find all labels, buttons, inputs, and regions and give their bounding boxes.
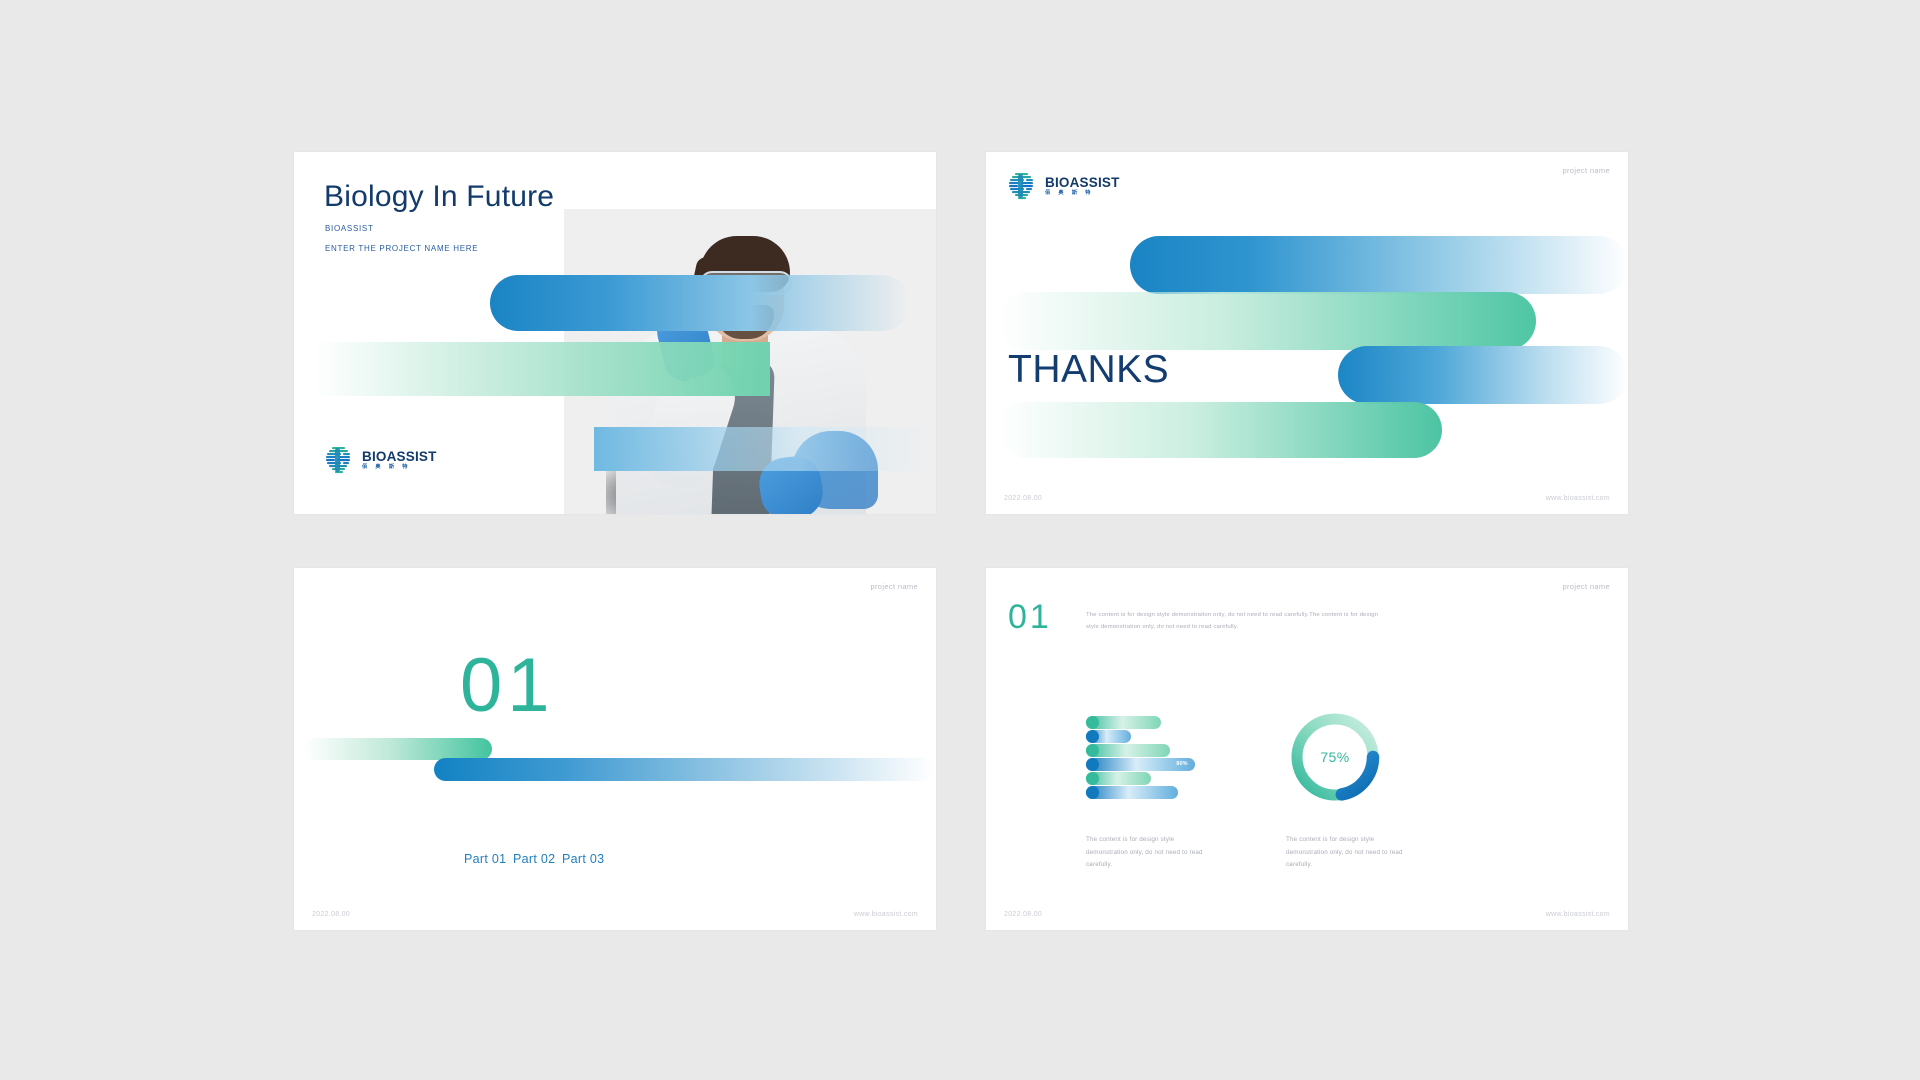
slide-deck-board: Biology In Future BIOASSIST ENTER THE PR… <box>0 0 1920 1080</box>
slide-data-charts[interactable]: project name 01 The content is for desig… <box>986 568 1628 930</box>
bar-cap-dot <box>1086 758 1099 771</box>
donut-center-value: 75% <box>1286 708 1384 806</box>
logo-wordmark: BIOASSIST <box>362 450 437 464</box>
bar-cap-dot <box>1086 716 1099 729</box>
caption-right: The content is for design style demonstr… <box>1286 834 1414 872</box>
logo-subtext-cn: 佰 奥 斯 特 <box>362 465 437 470</box>
bar-fill <box>1086 786 1178 799</box>
bar-cap-dot <box>1086 744 1099 757</box>
page-title: Biology In Future <box>324 180 554 214</box>
section-number: 01 <box>460 648 555 724</box>
decorative-capsule-green <box>314 342 770 396</box>
caption-left: The content is for design style demonstr… <box>1086 834 1214 872</box>
slide-thanks[interactable]: BIOASSIST 佰 奥 斯 特 project name THANKS 20… <box>986 152 1628 514</box>
donut-progress-chart: 75% <box>1286 708 1384 806</box>
slide-section-divider[interactable]: project name 01 Part 01 Part 02 Part 03 … <box>294 568 936 930</box>
bar-value-label: 80% <box>1176 761 1187 767</box>
bar-cap-dot <box>1086 772 1099 785</box>
decorative-capsule-3 <box>1338 346 1628 404</box>
footer-date: 2022.08.00 <box>312 911 350 918</box>
part-label-03[interactable]: Part 03 <box>562 852 604 866</box>
bar-cap-dot <box>1086 786 1099 799</box>
footer-date: 2022.08.00 <box>1004 911 1042 918</box>
decorative-capsule-light-blue <box>594 427 936 471</box>
project-name-label: project name <box>870 582 918 591</box>
project-name-label: project name <box>1562 166 1610 175</box>
brand-logo[interactable]: BIOASSIST 佰 奥 斯 特 <box>325 446 437 474</box>
decorative-capsule-green <box>304 738 492 760</box>
intro-paragraph: The content is for design style demonstr… <box>1086 610 1386 633</box>
bar-fill: 80% <box>1086 758 1195 771</box>
decorative-capsule-blue <box>490 275 910 331</box>
logo-wordmark: BIOASSIST <box>1045 176 1120 190</box>
slide-cover[interactable]: Biology In Future BIOASSIST ENTER THE PR… <box>294 152 936 514</box>
brand-logo[interactable]: BIOASSIST 佰 奥 斯 特 <box>1008 172 1120 200</box>
footer-website[interactable]: www.bioassist.com <box>854 911 918 918</box>
footer-date: 2022.08.00 <box>1004 495 1042 502</box>
decorative-capsule-4 <box>998 402 1442 458</box>
cover-subtitle-brand: BIOASSIST <box>325 224 374 233</box>
footer-website[interactable]: www.bioassist.com <box>1546 495 1610 502</box>
footer-website[interactable]: www.bioassist.com <box>1546 911 1610 918</box>
decorative-capsule-blue <box>434 758 934 781</box>
thanks-heading: THANKS <box>1008 348 1169 392</box>
logo-subtext-cn: 佰 奥 斯 特 <box>1045 191 1120 196</box>
project-name-label: project name <box>1562 582 1610 591</box>
part-label-01[interactable]: Part 01 <box>464 852 506 866</box>
dna-helix-icon <box>325 446 355 474</box>
decorative-capsule-2 <box>998 292 1536 350</box>
dna-helix-icon <box>1008 172 1038 200</box>
section-number: 01 <box>1008 600 1052 634</box>
cover-subtitle-project: ENTER THE PROJECT NAME HERE <box>325 244 478 253</box>
horizontal-bar-chart: 80% <box>1086 716 1222 800</box>
part-label-02[interactable]: Part 02 <box>513 852 555 866</box>
bar-cap-dot <box>1086 730 1099 743</box>
decorative-capsule-1 <box>1130 236 1628 294</box>
